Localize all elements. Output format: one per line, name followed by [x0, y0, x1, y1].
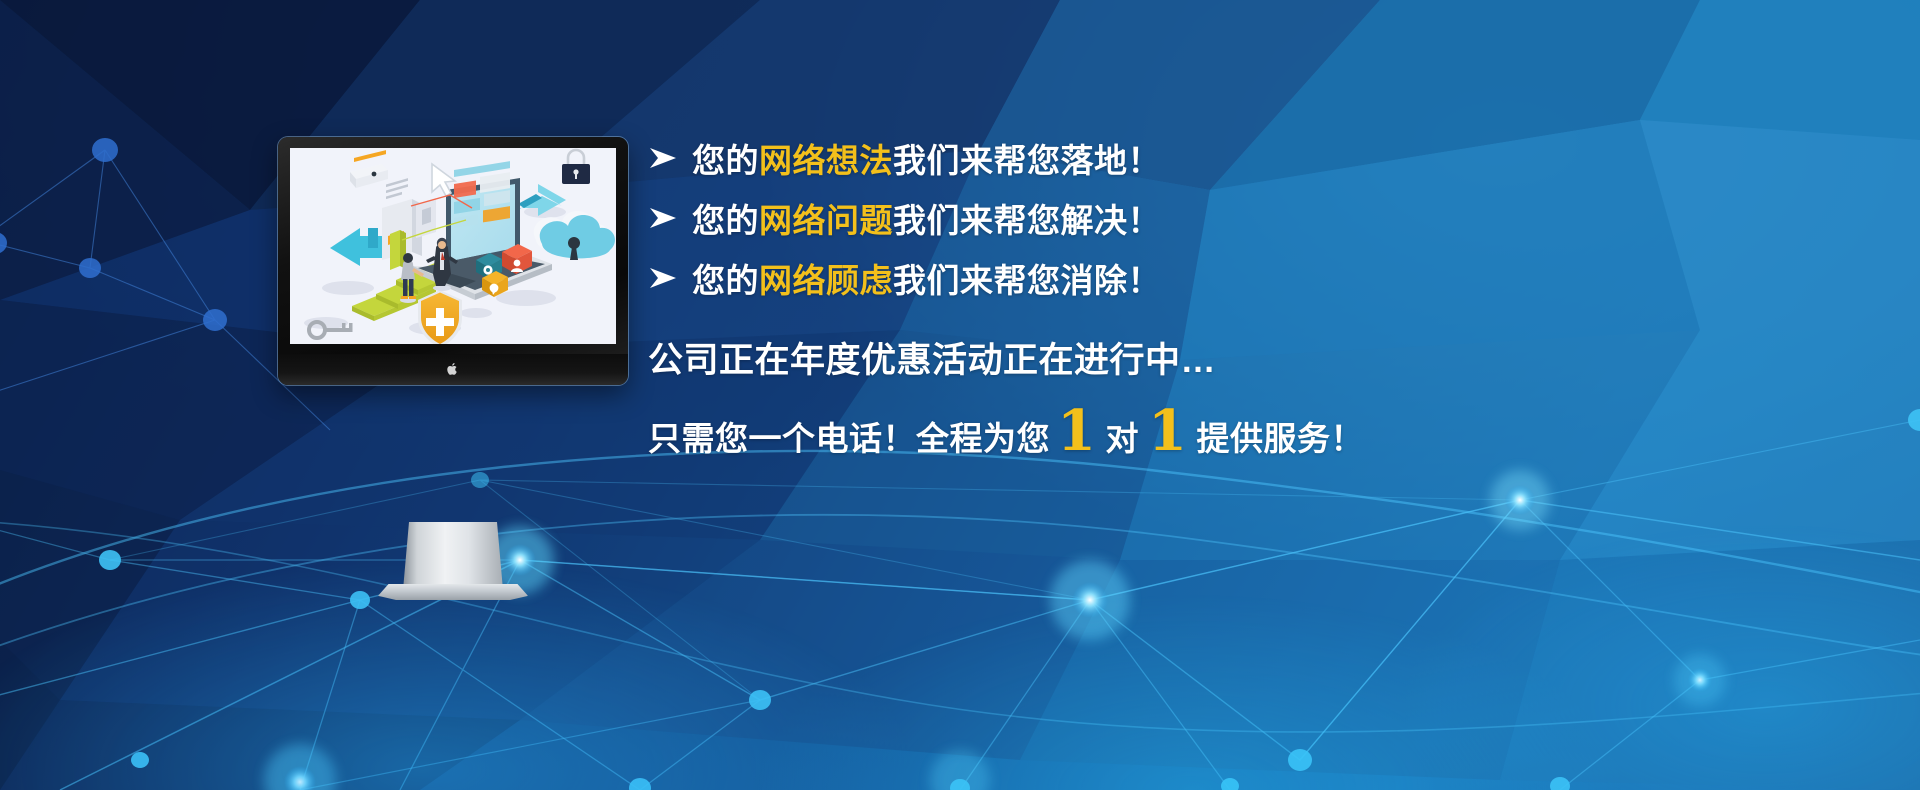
cta-part1: 只需您一个电话！全程为您 [648, 412, 1050, 460]
bullet-highlight: 网络问题 [759, 202, 893, 239]
cta-part2: 提供服务！ [1194, 412, 1366, 460]
arrow-bullet-icon [648, 267, 692, 289]
marketing-copy: 您的网络想法我们来帮您落地！ 您的网络问题我们来帮您解决！ 您的网络顾虑我们来帮… [648, 128, 1768, 460]
hero-banner: 您的网络想法我们来帮您落地！ 您的网络问题我们来帮您解决！ 您的网络顾虑我们来帮… [0, 0, 1920, 790]
arrow-bullet-icon [648, 147, 692, 169]
bullet-suffix: 我们来帮您落地！ [893, 142, 1161, 179]
bullet-text: 您的网络想法我们来帮您落地！ [692, 134, 1161, 182]
bullet-list: 您的网络想法我们来帮您落地！ 您的网络问题我们来帮您解决！ 您的网络顾虑我们来帮… [648, 128, 1768, 308]
monitor-screen [290, 148, 616, 344]
cta-middle: 对 [1103, 412, 1141, 460]
bullet-row: 您的网络问题我们来帮您解决！ [648, 188, 1768, 248]
isometric-illustration [290, 148, 616, 344]
bullet-text: 您的网络顾虑我们来帮您消除！ [692, 254, 1161, 302]
cta-number-two: 1 [1141, 409, 1194, 454]
monitor-stand-base [378, 584, 528, 600]
cta-line: 只需您一个电话！全程为您 1 对 1 提供服务！ [648, 409, 1768, 460]
monitor-stand-neck [403, 522, 503, 590]
monitor-graphic [278, 137, 628, 385]
bullet-prefix: 您的 [692, 262, 759, 299]
bullet-text: 您的网络问题我们来帮您解决！ [692, 194, 1161, 242]
bullet-prefix: 您的 [692, 202, 759, 239]
monitor-chin [278, 354, 628, 385]
bullet-highlight: 网络想法 [759, 142, 893, 179]
bullet-row: 您的网络顾虑我们来帮您消除！ [648, 248, 1768, 308]
apple-logo-icon [447, 362, 460, 376]
bullet-prefix: 您的 [692, 142, 759, 179]
bullet-suffix: 我们来帮您消除！ [893, 262, 1161, 299]
bullet-suffix: 我们来帮您解决！ [893, 202, 1161, 239]
bullet-row: 您的网络想法我们来帮您落地！ [648, 128, 1768, 188]
cta-number-one: 1 [1050, 409, 1103, 454]
bullet-highlight: 网络顾虑 [759, 262, 893, 299]
promo-line: 公司正在年度优惠活动正在进行中… [648, 332, 1768, 383]
arrow-bullet-icon [648, 207, 692, 229]
